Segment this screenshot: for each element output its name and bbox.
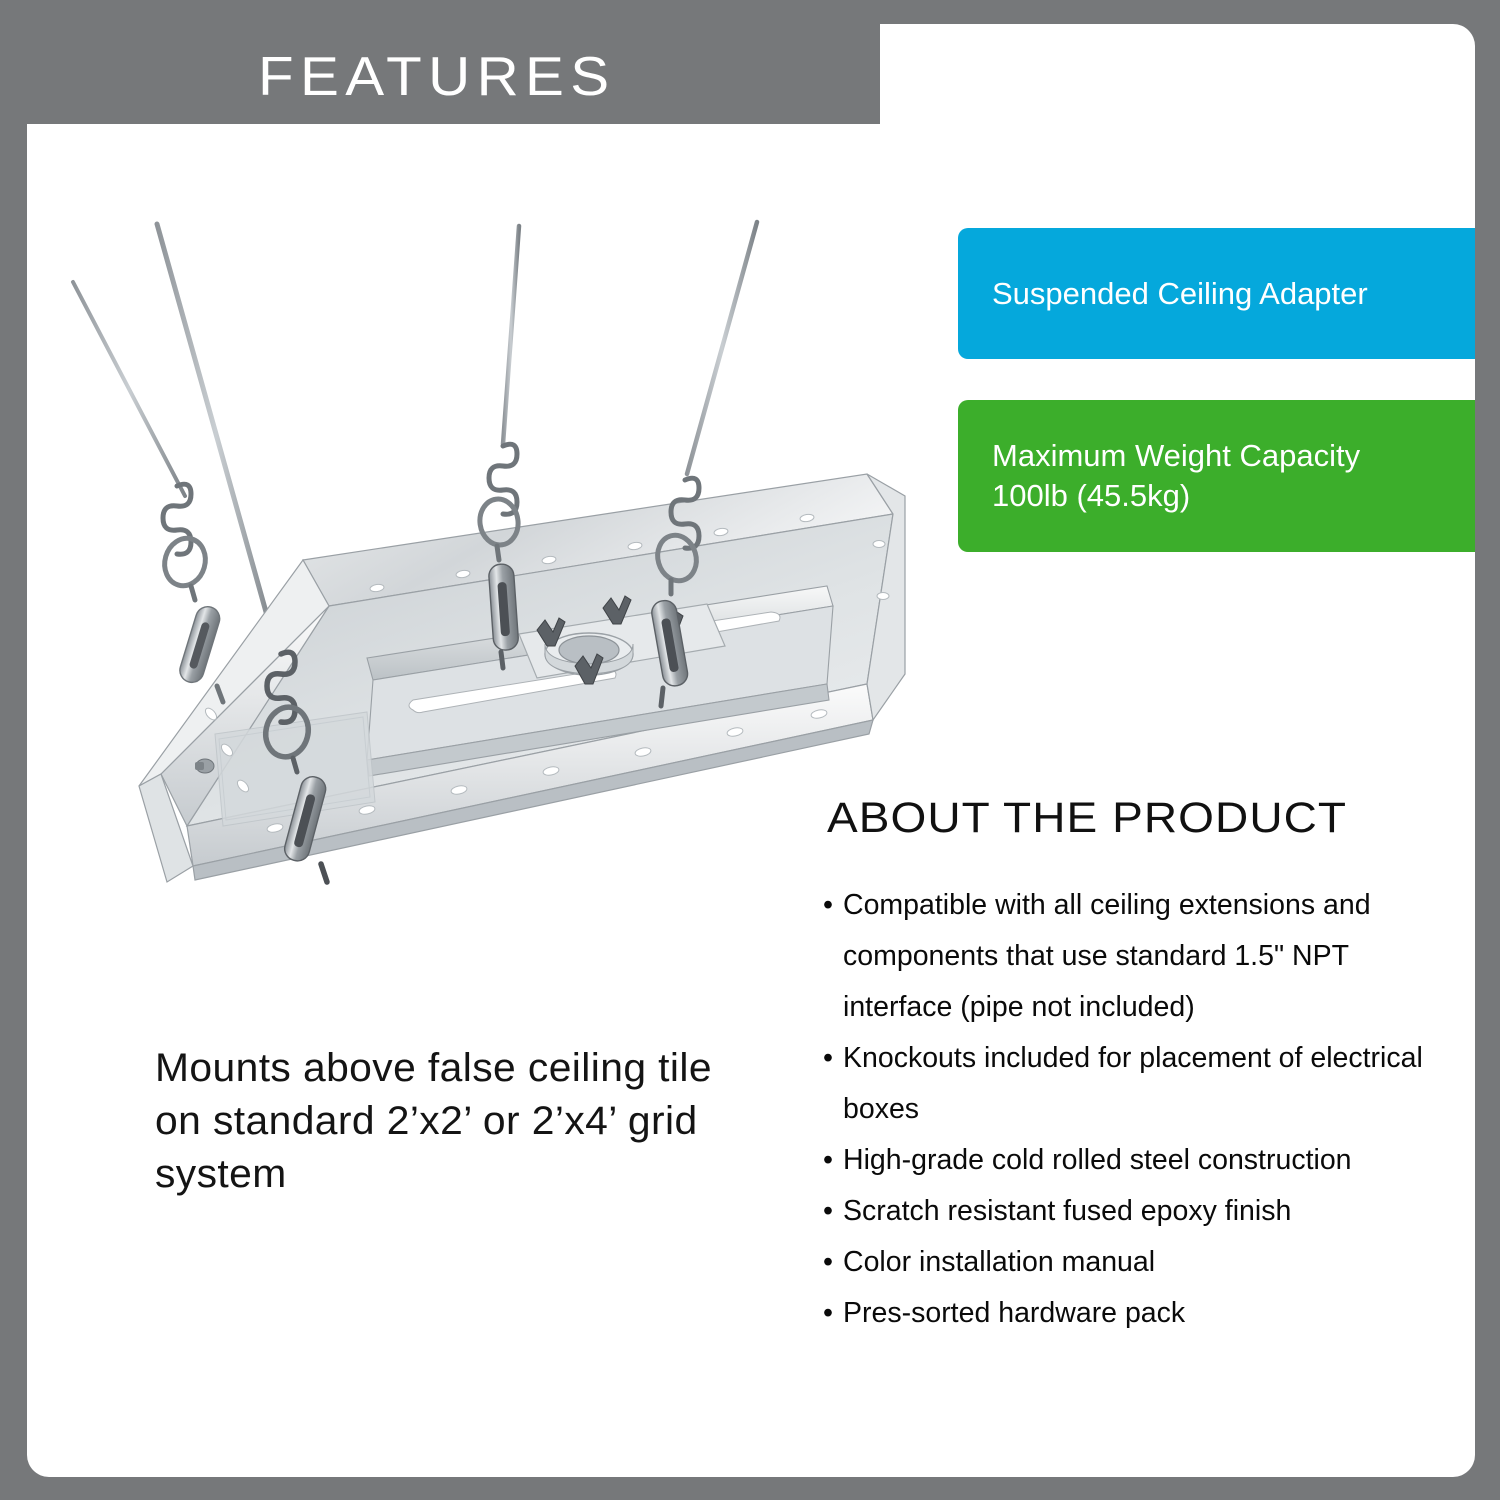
bullet-icon: • — [823, 1135, 843, 1186]
badge-suspended-ceiling-adapter: Suspended Ceiling Adapter — [958, 228, 1475, 359]
about-the-product-heading: ABOUT THE PRODUCT — [827, 794, 1347, 843]
list-item: • Color installation manual — [823, 1237, 1443, 1288]
list-item: • Pres-sorted hardware pack — [823, 1288, 1443, 1339]
side-bolt — [195, 759, 214, 773]
list-item: • Scratch resistant fused epoxy finish — [823, 1186, 1443, 1237]
bullet-icon: • — [823, 880, 843, 1033]
list-item-text: Scratch resistant fused epoxy finish — [843, 1186, 1443, 1237]
page-title: FEATURES — [258, 44, 616, 108]
list-item-text: Compatible with all ceiling extensions a… — [843, 880, 1443, 1033]
bullet-icon: • — [823, 1237, 843, 1288]
content-card: Suspended Ceiling Adapter Maximum Weight… — [27, 24, 1475, 1477]
list-item-text: Color installation manual — [843, 1237, 1443, 1288]
bullet-icon: • — [823, 1288, 843, 1339]
product-caption: Mounts above false ceiling tile on stand… — [155, 1042, 767, 1201]
list-item: • High-grade cold rolled steel construct… — [823, 1135, 1443, 1186]
badge-max-weight-capacity: Maximum Weight Capacity 100lb (45.5kg) — [958, 400, 1475, 552]
features-header-tab: FEATURES — [0, 0, 880, 124]
bullet-icon: • — [823, 1186, 843, 1237]
list-item: • Knockouts included for placement of el… — [823, 1033, 1443, 1135]
badge-blue-label: Suspended Ceiling Adapter — [992, 274, 1475, 314]
about-the-product-bullet-list: • Compatible with all ceiling extensions… — [823, 880, 1443, 1339]
badge-green-label-line2: 100lb (45.5kg) — [992, 476, 1475, 516]
bullet-icon: • — [823, 1033, 843, 1135]
badge-green-label-line1: Maximum Weight Capacity — [992, 436, 1475, 476]
list-item: • Compatible with all ceiling extensions… — [823, 880, 1443, 1033]
list-item-text: Pres-sorted hardware pack — [843, 1288, 1443, 1339]
list-item-text: High-grade cold rolled steel constructio… — [843, 1135, 1443, 1186]
list-item-text: Knockouts included for placement of elec… — [843, 1033, 1443, 1135]
page-background: Suspended Ceiling Adapter Maximum Weight… — [0, 0, 1500, 1500]
cable-hardware-1 — [159, 484, 223, 702]
